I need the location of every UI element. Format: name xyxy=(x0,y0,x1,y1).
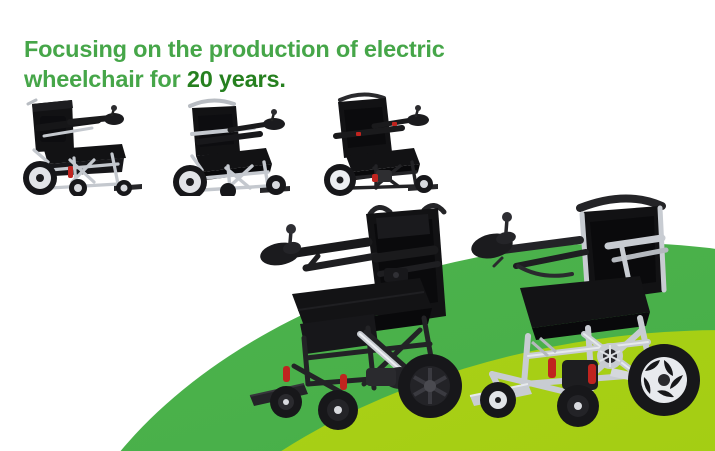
thumbnail-wheelchair-1: Folding electric wheelchair, silver fram… xyxy=(14,92,154,196)
hero-wheelchair-right: Electric wheelchair, silver aluminium fr… xyxy=(462,188,714,430)
thumbnail-wheelchair-2: Folding electric wheelchair, silver fram… xyxy=(168,90,302,196)
thumbnail-wheelchair-3: Folding electric wheelchair, black frame… xyxy=(314,86,454,196)
hero-wheelchair-left: Electric wheelchair with high backrest, … xyxy=(248,198,482,430)
promo-banner: Focusing on the production of electric w… xyxy=(0,0,715,451)
page-title: Focusing on the production of electric w… xyxy=(24,34,524,94)
headline-text-emphasis: 20 years. xyxy=(187,66,286,92)
